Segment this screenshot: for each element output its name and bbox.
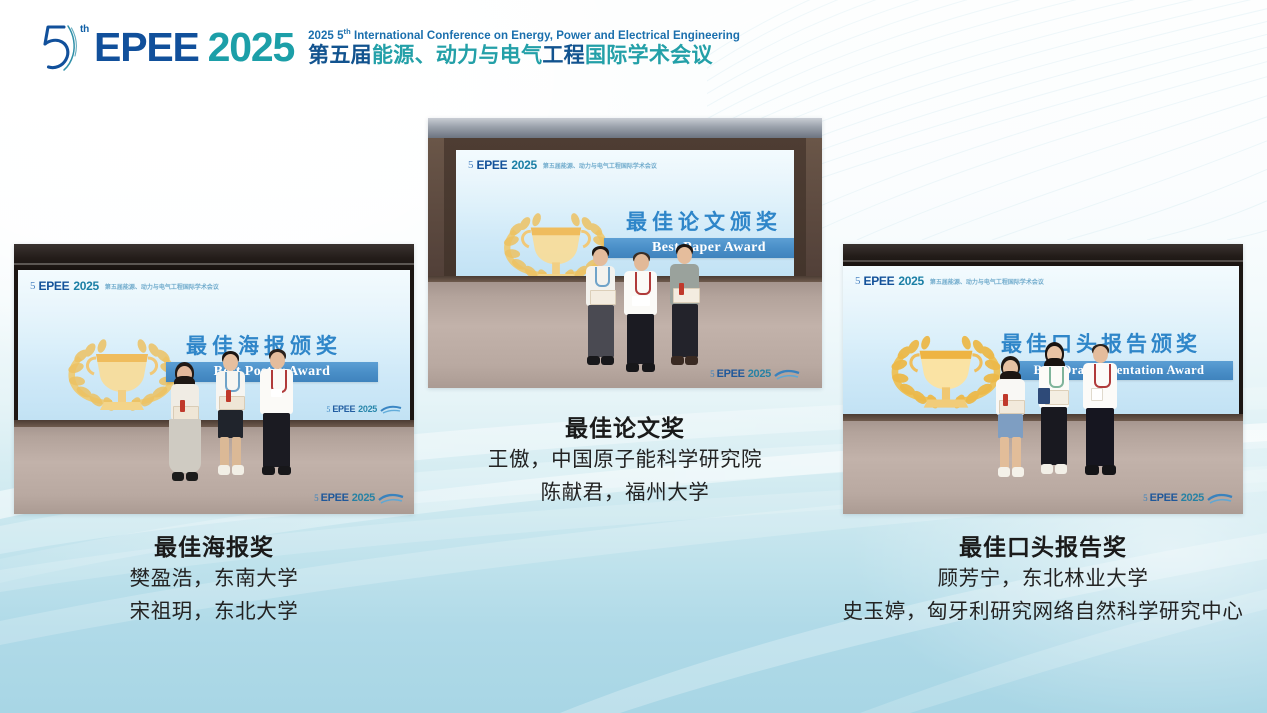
header-title-block: 2025 5th International Conference on Ene… bbox=[308, 27, 740, 67]
award-recipient bbox=[988, 356, 1032, 488]
poster-award-photo[interactable]: 5 EPEE 2025 第五届能源、动力与电气工程国际学术会议 bbox=[14, 244, 414, 514]
conference-header: th EPEE 2025 2025 5th International Conf… bbox=[38, 18, 740, 76]
caption-title: 最佳海报奖 bbox=[14, 533, 414, 563]
ceiling bbox=[843, 244, 1243, 266]
slide-background: th EPEE 2025 2025 5th International Conf… bbox=[0, 0, 1267, 713]
oral-award-photo[interactable]: 5 EPEE 2025 第五届能源、动力与电气工程国际学术会议 bbox=[843, 244, 1243, 514]
screen-logo: 5 EPEE 2025 第五届能源、动力与电气工程国际学术会议 bbox=[30, 279, 219, 293]
photo-watermark: 5 EPEE 2025 bbox=[1143, 492, 1233, 504]
award-recipient bbox=[208, 351, 252, 489]
ceiling bbox=[14, 244, 414, 270]
screen-logo: 5 EPEE 2025 第五届能源、动力与电气工程国际学术会议 bbox=[855, 274, 1044, 288]
conference-title-cn: 第五届能源、动力与电气工程国际学术会议 bbox=[308, 45, 740, 67]
caption-recipient: 樊盈浩，东南大学 bbox=[14, 563, 414, 596]
caption-recipient: 顾芳宁，东北林业大学 bbox=[823, 563, 1263, 596]
swoosh-icon bbox=[378, 493, 404, 504]
swoosh-icon bbox=[1207, 493, 1233, 504]
screen-watermark: 5 EPEE 2025 bbox=[326, 404, 402, 414]
caption-recipient: 史玉婷，匈牙利研究网络自然科学研究中心 bbox=[823, 596, 1263, 629]
award-presenter bbox=[254, 349, 300, 491]
screen-title-cn: 最佳论文颁奖 bbox=[626, 206, 782, 236]
swoosh-icon bbox=[380, 405, 402, 414]
edition-five-logo-icon bbox=[38, 22, 78, 72]
swoosh-icon bbox=[774, 369, 800, 380]
award-recipient bbox=[662, 244, 706, 374]
poster-award-caption: 最佳海报奖 樊盈浩，东南大学 宋祖玥，东北大学 bbox=[14, 533, 414, 629]
caption-recipient: 王傲，中国原子能科学研究院 bbox=[418, 444, 832, 477]
logo-acronym-label: EPEE bbox=[94, 27, 199, 68]
logo-year-label: 2025 bbox=[208, 27, 294, 68]
award-presenter bbox=[618, 252, 664, 374]
photo-watermark: 5 EPEE 2025 bbox=[710, 368, 800, 380]
award-recipient bbox=[578, 246, 622, 372]
caption-recipient: 宋祖玥，东北大学 bbox=[14, 596, 414, 629]
paper-award-photo[interactable]: 5 EPEE 2025 第五届能源、动力与电气工程国际学术会议 bbox=[428, 118, 822, 388]
edition-suffix-label: th bbox=[80, 24, 89, 35]
photo-watermark: 5 EPEE 2025 bbox=[314, 492, 404, 504]
ceiling bbox=[428, 118, 822, 138]
award-recipient bbox=[162, 362, 206, 488]
caption-title: 最佳论文奖 bbox=[418, 414, 832, 444]
award-presenter bbox=[1077, 344, 1123, 490]
paper-award-caption: 最佳论文奖 王傲，中国原子能科学研究院 陈献君，福州大学 bbox=[418, 414, 832, 510]
oral-award-caption: 最佳口头报告奖 顾芳宁，东北林业大学 史玉婷，匈牙利研究网络自然科学研究中心 bbox=[823, 533, 1263, 629]
screen-logo: 5 EPEE 2025 第五届能源、动力与电气工程国际学术会议 bbox=[468, 158, 657, 172]
photo-scene: 5 EPEE 2025 第五届能源、动力与电气工程国际学术会议 bbox=[843, 244, 1243, 514]
photo-scene: 5 EPEE 2025 第五届能源、动力与电气工程国际学术会议 bbox=[14, 244, 414, 514]
caption-title: 最佳口头报告奖 bbox=[823, 533, 1263, 563]
caption-recipient: 陈献君，福州大学 bbox=[418, 477, 832, 510]
photo-scene: 5 EPEE 2025 第五届能源、动力与电气工程国际学术会议 bbox=[428, 118, 822, 388]
conference-title-en: 2025 5th International Conference on Ene… bbox=[308, 27, 740, 42]
award-recipient bbox=[1031, 342, 1077, 490]
